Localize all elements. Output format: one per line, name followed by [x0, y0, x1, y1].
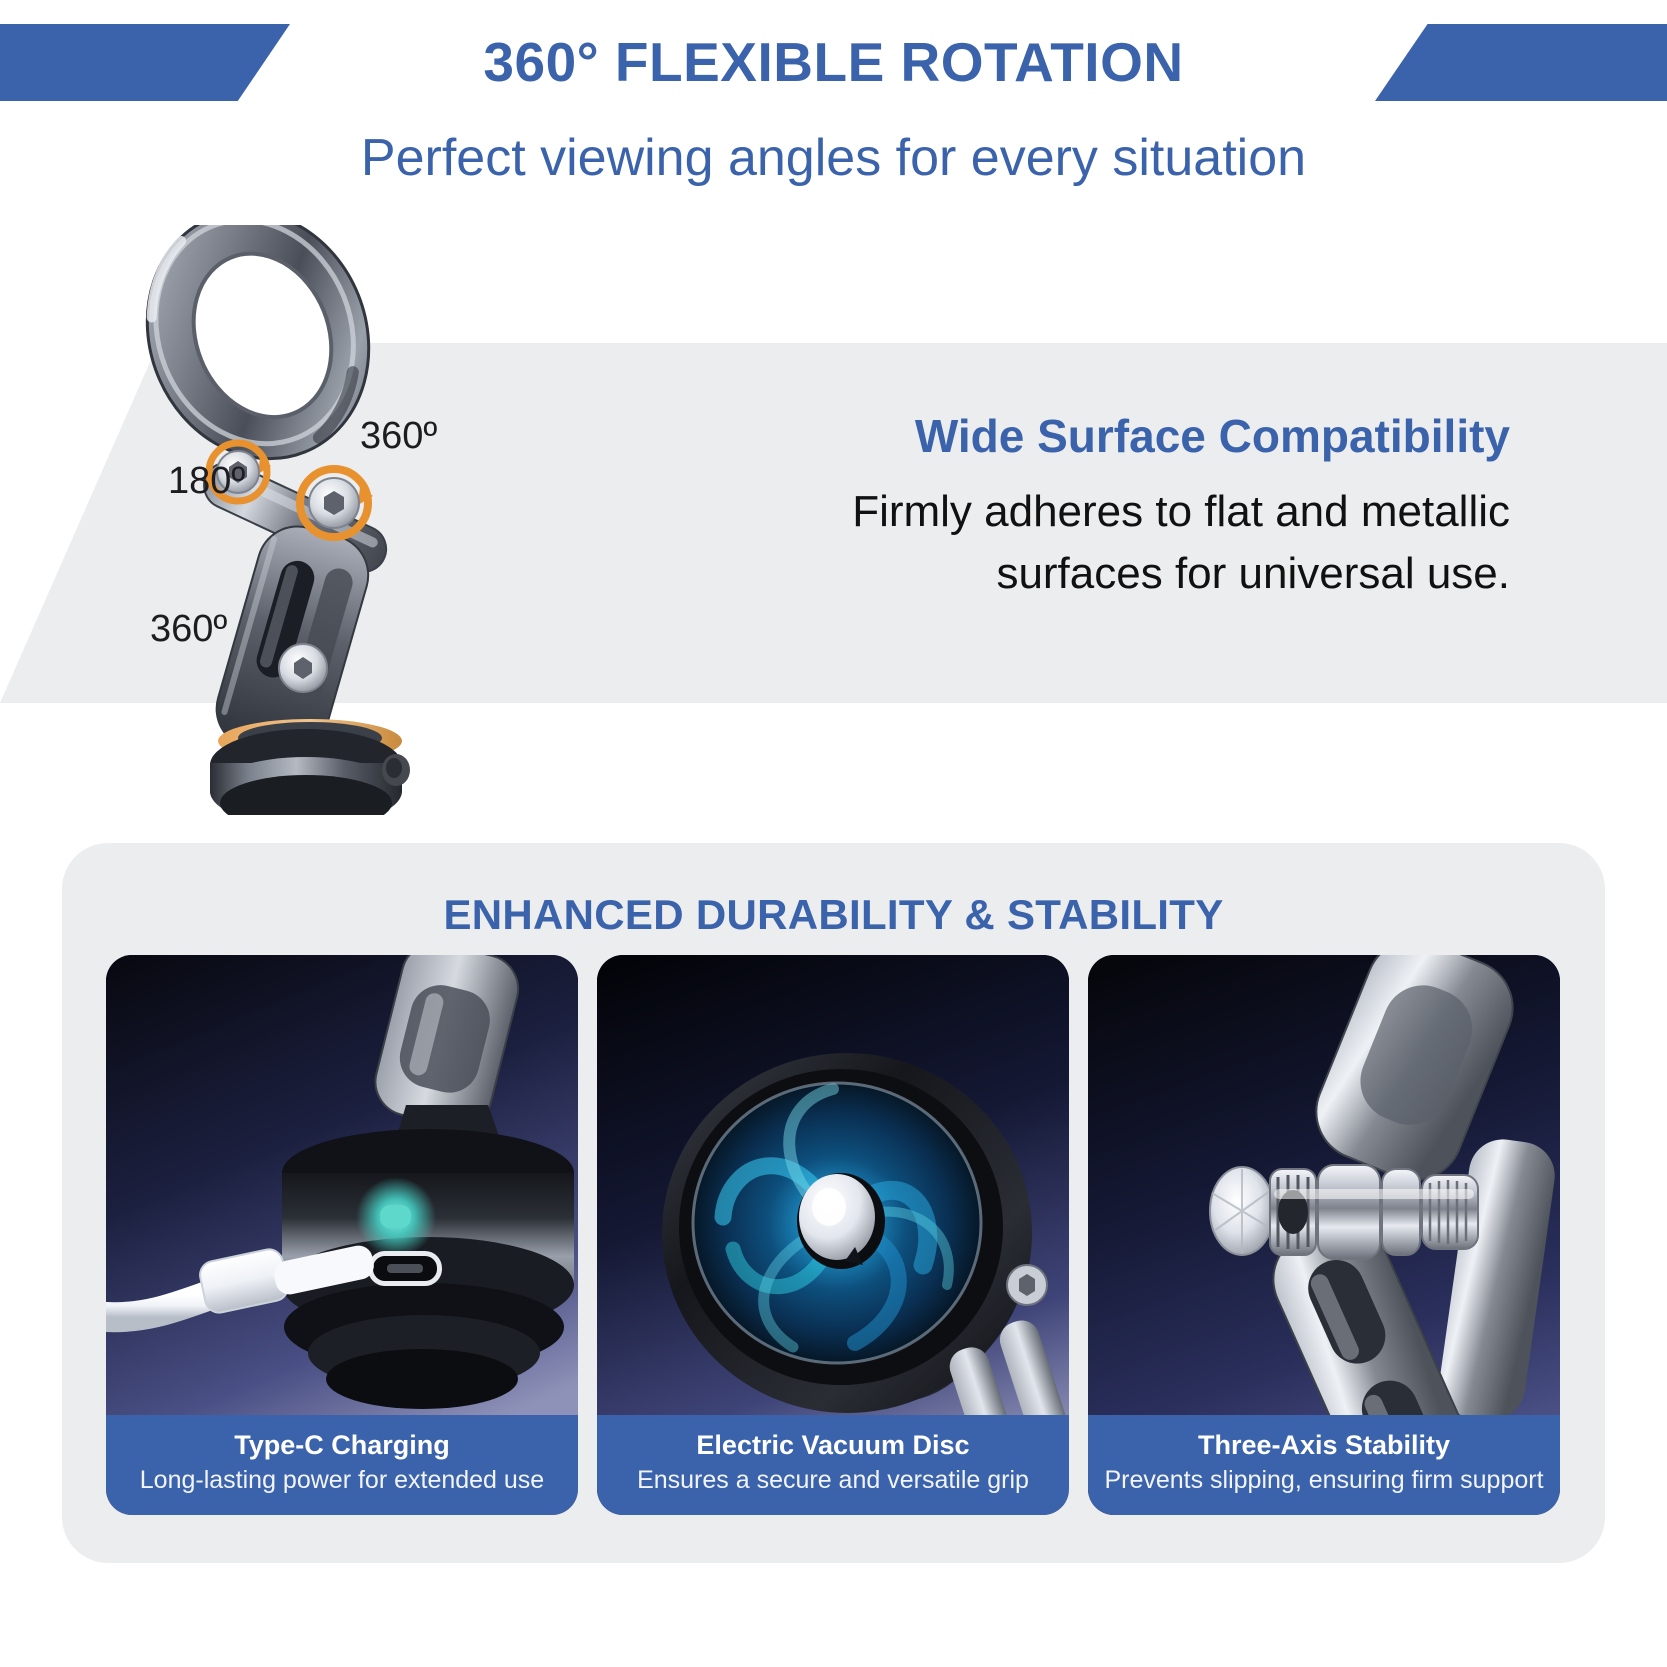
- durability-panel: ENHANCED DURABILITY & STABILITY: [62, 843, 1605, 1563]
- card-title: Three-Axis Stability: [1096, 1427, 1552, 1463]
- angle-label-360-base: 360º: [150, 608, 227, 651]
- card-title: Type-C Charging: [114, 1427, 570, 1463]
- card-subtitle: Ensures a secure and versatile grip: [605, 1463, 1061, 1497]
- card-title: Electric Vacuum Disc: [605, 1427, 1061, 1463]
- feature-card-list: Type-C Charging Long-lasting power for e…: [106, 955, 1561, 1515]
- angle-label-360-top: 360º: [360, 415, 437, 458]
- card-subtitle: Long-lasting power for extended use: [114, 1463, 570, 1497]
- card-caption: Electric Vacuum Disc Ensures a secure an…: [597, 1415, 1069, 1515]
- card-subtitle: Prevents slipping, ensuring firm support: [1096, 1463, 1552, 1497]
- product-hero-image: [120, 225, 640, 815]
- section-title: ENHANCED DURABILITY & STABILITY: [62, 891, 1605, 939]
- feature-heading: Wide Surface Compatibility: [720, 405, 1510, 467]
- angle-label-180: 180º: [168, 460, 245, 503]
- page-title: 360° FLEXIBLE ROTATION: [0, 27, 1667, 97]
- feature-card-type-c[interactable]: Type-C Charging Long-lasting power for e…: [106, 955, 578, 1515]
- card-caption: Type-C Charging Long-lasting power for e…: [106, 1415, 578, 1515]
- feature-card-vacuum-disc[interactable]: Electric Vacuum Disc Ensures a secure an…: [597, 955, 1069, 1515]
- feature-body-line-2: surfaces for universal use.: [720, 543, 1510, 605]
- header: 360° FLEXIBLE ROTATION Perfect viewing a…: [0, 0, 1667, 215]
- feature-card-three-axis[interactable]: Three-Axis Stability Prevents slipping, …: [1088, 955, 1560, 1515]
- card-caption: Three-Axis Stability Prevents slipping, …: [1088, 1415, 1560, 1515]
- feature-text-block: Wide Surface Compatibility Firmly adhere…: [720, 405, 1510, 605]
- feature-body-line-1: Firmly adheres to flat and metallic: [720, 481, 1510, 543]
- page-subtitle: Perfect viewing angles for every situati…: [0, 125, 1667, 191]
